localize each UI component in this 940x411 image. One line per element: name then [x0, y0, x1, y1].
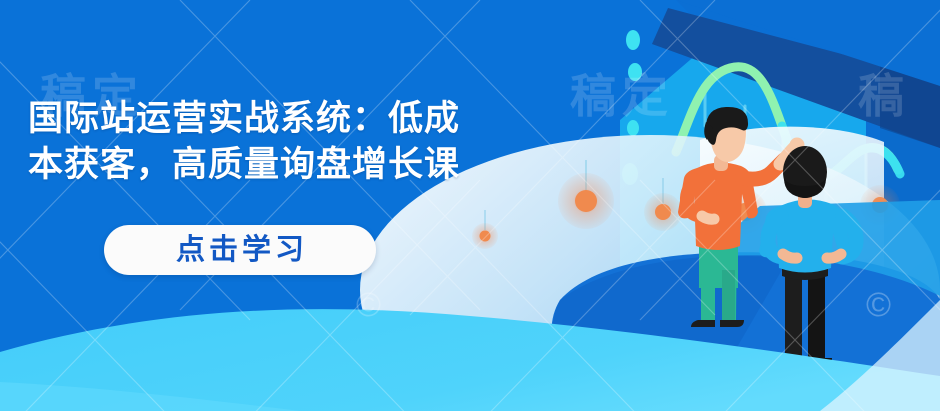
- banner-title: 国际站运营实战系统：低成 本获客，高质量询盘增长课: [28, 96, 628, 188]
- course-promo-banner: 稿定 稿定 稿 © © 国际站运营实战系统：低成 本获客，高质量询盘增长课 点击…: [0, 0, 940, 411]
- title-line-2: 本获客，高质量询盘增长课: [28, 142, 628, 188]
- title-line-1: 国际站运营实战系统：低成: [28, 96, 628, 142]
- click-to-learn-button[interactable]: 点击学习: [104, 225, 376, 275]
- banner-illustration: [0, 0, 940, 411]
- cta-button-label: 点击学习: [172, 236, 308, 265]
